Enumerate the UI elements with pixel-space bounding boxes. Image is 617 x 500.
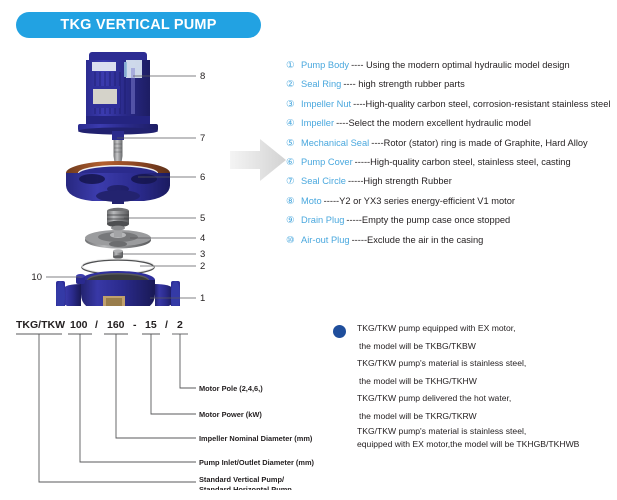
callout-6: 6 xyxy=(200,172,205,183)
legend-part-desc: -----Exclude the air in the casing xyxy=(352,235,484,245)
legend-number-icon: ⑨ xyxy=(286,215,301,226)
bullet-dot-icon xyxy=(333,325,346,338)
right-arrow-icon xyxy=(230,136,286,184)
legend-item: ⑥ Pump Cover -----High-quality carbon st… xyxy=(286,157,617,176)
pump-part-pump-body xyxy=(56,271,180,306)
note-line: the model will be TKBG/TKBW xyxy=(357,338,617,356)
legend-part-name: Seal Ring xyxy=(301,79,341,89)
note-line: the model will be TKHG/TKHW xyxy=(357,373,617,391)
model-variants-notes: TKG/TKW pump equipped with EX motor, the… xyxy=(333,320,617,450)
legend-part-desc: ---- high strength rubber parts xyxy=(343,79,464,89)
model-key-label-standard-horiz: Standard Horizontal Pump xyxy=(199,485,292,490)
model-key-label-motor-pole: Motor Pole (2,4,6,) xyxy=(199,384,263,393)
note-line: TKG/TKW pump delivered the hot water, xyxy=(357,390,617,408)
exploded-pump-diagram: 8 7 6 5 4 3 2 1 10 9 xyxy=(0,48,265,306)
legend-item: ⑧ Moto -----Y2 or YX3 series energy-effi… xyxy=(286,196,617,215)
legend-item: ③ Impeller Nut ----High-quality carbon s… xyxy=(286,99,617,118)
callout-2: 2 xyxy=(200,261,205,272)
callout-4: 4 xyxy=(200,233,205,244)
note-line: TKG/TKW pump's material is stainless ste… xyxy=(357,355,617,373)
note-line: equipped with EX motor,the model will be… xyxy=(357,438,617,451)
legend-part-name: Pump Cover xyxy=(301,157,353,167)
legend-part-name: Pump Body xyxy=(301,60,349,70)
model-code-slash-2: / xyxy=(165,319,168,331)
pump-part-air-out-plug xyxy=(76,274,85,284)
pump-part-mechanical-seal xyxy=(107,208,129,231)
legend-number-icon: ① xyxy=(286,60,301,71)
legend-item: ⑩ Air-out Plug -----Exclude the air in t… xyxy=(286,235,617,254)
callout-10: 10 xyxy=(31,272,42,283)
model-code-pole: 2 xyxy=(177,319,183,331)
pump-part-impeller xyxy=(85,230,151,249)
parts-legend: ① Pump Body ---- Using the modern optima… xyxy=(286,60,617,254)
legend-number-icon: ③ xyxy=(286,99,301,110)
pump-part-pump-cover xyxy=(66,161,170,204)
callout-5: 5 xyxy=(200,213,205,224)
legend-part-desc: -----Empty the pump case once stopped xyxy=(346,215,510,225)
callout-7: 7 xyxy=(200,133,205,144)
legend-part-desc: ---- Using the modern optimal hydraulic … xyxy=(351,60,570,70)
legend-number-icon: ⑧ xyxy=(286,196,301,207)
model-key-label-motor-power: Motor Power (kW) xyxy=(199,410,262,419)
callout-3: 3 xyxy=(200,249,205,260)
legend-number-icon: ⑩ xyxy=(286,235,301,246)
legend-number-icon: ⑤ xyxy=(286,138,301,149)
legend-part-name: Impeller xyxy=(301,118,334,128)
legend-item: ④ Impeller ----Select the modern excelle… xyxy=(286,118,617,137)
page-title-banner: TKG VERTICAL PUMP xyxy=(16,12,261,38)
page-title: TKG VERTICAL PUMP xyxy=(60,17,216,33)
model-code-slash-1: / xyxy=(95,319,98,331)
legend-part-name: Mechanical Seal xyxy=(301,138,369,148)
model-code-inlet: 100 xyxy=(70,319,88,331)
legend-part-desc: ----Rotor (stator) ring is made of Graph… xyxy=(371,138,587,148)
legend-part-name: Seal Circle xyxy=(301,176,346,186)
model-designation-key: TKG/TKW 100 / 160 - 15 / 2 xyxy=(0,310,320,490)
model-key-label-impeller-dia: Impeller Nominal Diameter (mm) xyxy=(199,434,313,443)
note-line: TKG/TKW pump equipped with EX motor, xyxy=(357,320,617,338)
legend-part-desc: -----Y2 or YX3 series energy-efficient V… xyxy=(324,196,515,206)
legend-item: ⑨ Drain Plug -----Empty the pump case on… xyxy=(286,215,617,234)
model-key-label-standard-vert: Standard Vertical Pump/ xyxy=(199,475,284,484)
legend-number-icon: ⑦ xyxy=(286,176,301,187)
model-code-power: 15 xyxy=(145,319,157,331)
legend-item: ② Seal Ring ---- high strength rubber pa… xyxy=(286,79,617,98)
legend-part-name: Impeller Nut xyxy=(301,99,351,109)
legend-part-desc: -----High-quality carbon steel, stainles… xyxy=(355,157,571,167)
model-code-dash: - xyxy=(133,319,137,331)
legend-number-icon: ② xyxy=(286,79,301,90)
legend-item: ① Pump Body ---- Using the modern optima… xyxy=(286,60,617,79)
legend-part-desc: ----High-quality carbon steel, corrosion… xyxy=(353,99,610,109)
legend-item: ⑤ Mechanical Seal ----Rotor (stator) rin… xyxy=(286,138,617,157)
callout-1: 1 xyxy=(200,293,205,304)
legend-item: ⑦ Seal Circle -----High strength Rubber xyxy=(286,176,617,195)
model-code-impeller: 160 xyxy=(107,319,125,331)
pump-part-motor xyxy=(78,52,158,135)
legend-part-desc: -----High strength Rubber xyxy=(348,176,452,186)
legend-number-icon: ④ xyxy=(286,118,301,129)
model-code-series: TKG/TKW xyxy=(16,319,65,331)
legend-part-name: Air-out Plug xyxy=(301,235,350,245)
note-line: TKG/TKW pump's material is stainless ste… xyxy=(357,425,617,438)
legend-part-name: Drain Plug xyxy=(301,215,344,225)
note-line: the model will be TKRG/TKRW xyxy=(357,408,617,426)
model-key-label-inlet-outlet: Pump Inlet/Outlet Diameter (mm) xyxy=(199,458,315,467)
legend-number-icon: ⑥ xyxy=(286,157,301,168)
callout-8: 8 xyxy=(200,71,205,82)
legend-part-name: Moto xyxy=(301,196,322,206)
legend-part-desc: ----Select the modern excellent hydrauli… xyxy=(336,118,531,128)
pump-part-impeller-nut xyxy=(113,249,123,259)
